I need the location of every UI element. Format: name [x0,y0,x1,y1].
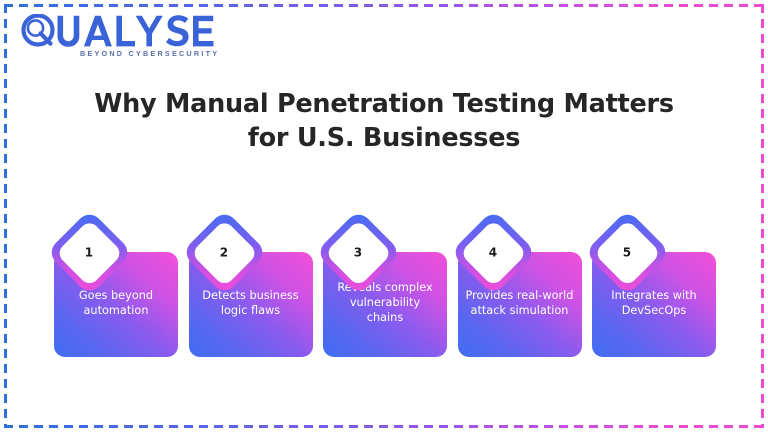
badge-number: 2 [220,246,228,258]
frame-border-top [4,4,764,7]
page-title: Why Manual Penetration Testing Matters f… [0,88,768,156]
benefit-card-row: Goes beyond automation 1 Detects busines… [54,222,716,362]
badge-number: 1 [85,246,93,258]
benefit-card-label: Reveals complex vulnerability chains [331,281,439,326]
brand-logo: BEYOND CYBERSECURITY [19,14,229,60]
brand-tagline: BEYOND CYBERSECURITY [80,49,219,58]
benefit-card-label: Detects business logic flaws [197,289,305,319]
infographic-canvas: BEYOND CYBERSECURITY Why Manual Penetrat… [0,0,768,432]
frame-border-bottom [4,425,764,428]
badge-number: 5 [623,246,631,258]
benefit-card-1: Goes beyond automation 1 [54,222,178,362]
badge-number: 4 [489,246,497,258]
qualysec-wordmark-icon [19,14,219,48]
page-title-line-2: for U.S. Businesses [0,122,768,156]
frame-border-right [761,4,764,428]
benefit-card-3: Reveals complex vulnerability chains 3 [323,222,447,362]
benefit-card-label: Goes beyond automation [62,289,170,319]
page-title-line-1: Why Manual Penetration Testing Matters [0,88,768,122]
badge-number: 3 [354,246,362,258]
benefit-card-4: Provides real-world attack simulation 4 [458,222,582,362]
benefit-card-label: Integrates with DevSecOps [600,289,708,319]
benefit-card-2: Detects business logic flaws 2 [189,222,313,362]
benefit-card-label: Provides real-world attack simulation [466,289,574,319]
frame-border-left [4,4,7,428]
benefit-card-5: Integrates with DevSecOps 5 [592,222,716,362]
